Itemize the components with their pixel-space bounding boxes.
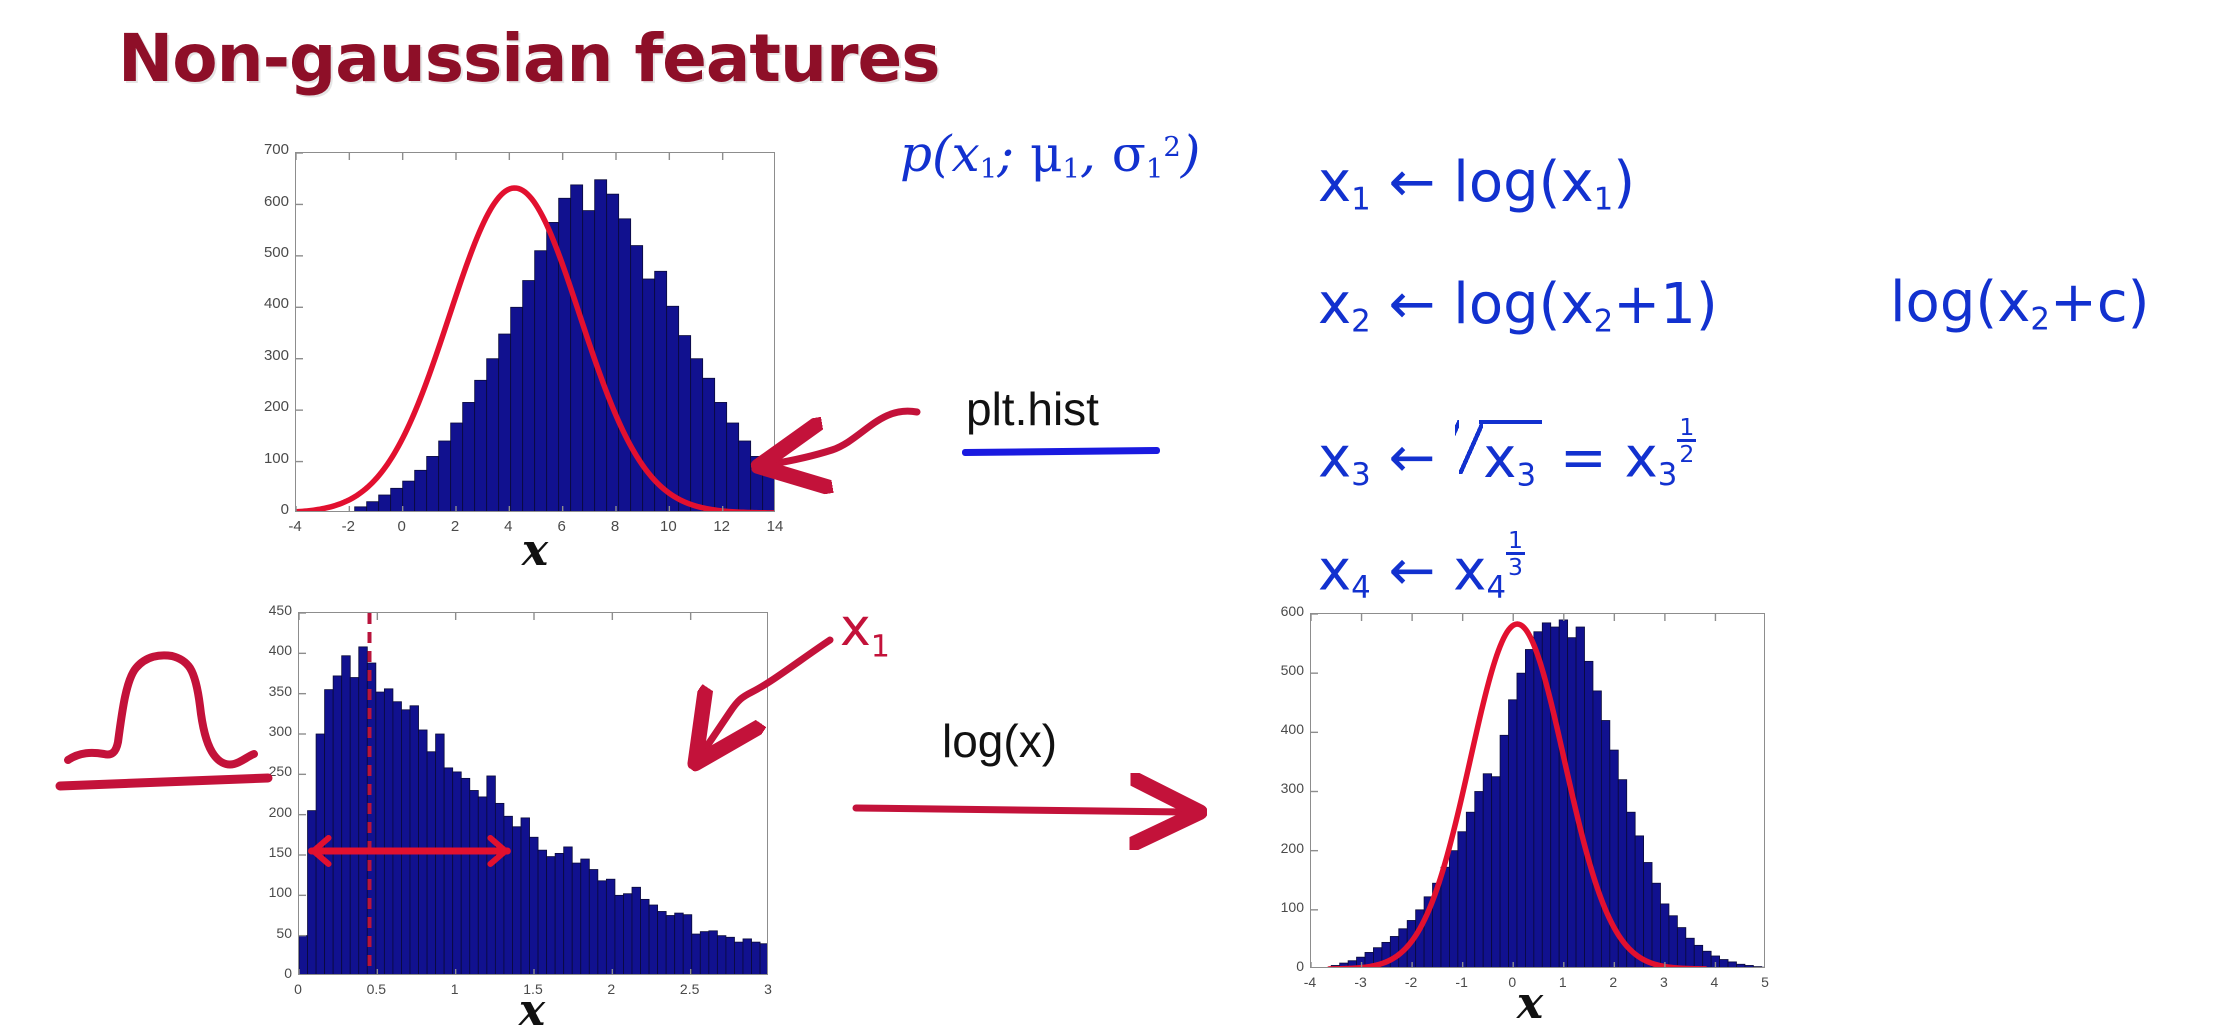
frac-den: 2 [1677, 442, 1696, 466]
histogram-bar [1703, 951, 1711, 968]
histogram-bar [1593, 691, 1601, 968]
histogram-bar [333, 676, 342, 975]
y-tick-label: 250 [234, 763, 292, 779]
histogram-bar [1694, 945, 1702, 968]
histogram-bar [547, 222, 559, 512]
hand-arrow: ← [1389, 539, 1436, 604]
histogram-bar [623, 894, 632, 975]
formula-mu-sub: 1 [1062, 153, 1080, 185]
x-tick-label: 2.5 [665, 981, 715, 997]
y-tick-label: 200 [234, 804, 292, 820]
histogram-bar [606, 879, 615, 975]
histogram-bar [572, 863, 581, 975]
hand-exponent-third: 13 [1506, 528, 1525, 579]
histogram-bar [607, 194, 619, 512]
hand-rhs-sub: 1 [1594, 182, 1614, 218]
handwriting-x2-logc: log(x2+c) [1890, 270, 2150, 338]
histogram-bar [384, 689, 393, 975]
x-tick-label: -1 [1437, 974, 1487, 990]
histogram-bar [683, 915, 692, 975]
hand-lhs: x [1318, 426, 1351, 491]
histogram-bar [470, 790, 479, 975]
histogram-bar [619, 219, 631, 512]
histogram-bar [478, 797, 487, 975]
x-tick-label: 3 [1639, 974, 1689, 990]
chart-2-xlabel: x [492, 985, 572, 1036]
x-tick-label: 10 [643, 518, 693, 535]
plot-canvas [296, 153, 775, 512]
histogram-bar [715, 402, 727, 512]
histogram-bar [427, 752, 436, 975]
chart-hist-gaussian-top [295, 152, 775, 512]
x-tick-label: -4 [270, 518, 320, 535]
histogram-bar [564, 847, 573, 975]
probability-formula: p(x1; μ1, σ12) [900, 125, 1200, 185]
histogram-bar [1449, 851, 1457, 968]
histogram-bar [530, 837, 539, 975]
frac-den: 3 [1506, 555, 1525, 579]
hand-rhs: log(x [1890, 270, 2030, 335]
histogram-bar [709, 931, 718, 975]
histogram-bar [717, 936, 726, 975]
y-tick-label: 0 [231, 501, 289, 518]
histogram-bar [1720, 960, 1728, 968]
histogram-bar [453, 772, 462, 975]
plt-hist-underline [962, 447, 1160, 456]
log-x-label: log(x) [942, 714, 1057, 768]
y-tick-label: 300 [231, 347, 289, 364]
histogram-bar [299, 936, 308, 975]
hand-lhs-sub: 4 [1351, 570, 1371, 606]
histogram-bar [308, 811, 317, 975]
histogram-bar [1458, 832, 1466, 968]
sketch-bump [68, 655, 254, 764]
hand-power-base-sub: 4 [1486, 570, 1506, 606]
y-tick-label: 0 [1246, 958, 1304, 974]
histogram-bar [367, 502, 379, 512]
histogram-bar [1500, 735, 1508, 968]
histogram-bar [739, 441, 751, 512]
x-tick-label: -2 [323, 518, 373, 535]
histogram-bar [511, 307, 523, 512]
histogram-bar [391, 488, 403, 512]
x-tick-label: 0 [273, 981, 323, 997]
histogram-bar [1525, 650, 1533, 969]
arrow-logx [856, 808, 1186, 812]
histogram-bar [1517, 673, 1525, 968]
plot-frame [295, 152, 775, 512]
histogram-bar [342, 656, 351, 975]
histogram-bar [589, 870, 598, 975]
histogram-bar [649, 905, 658, 975]
hand-lhs-sub: 2 [1351, 304, 1371, 340]
histogram-bar [703, 378, 715, 512]
histogram-bar [700, 932, 709, 975]
histogram-bar [1466, 812, 1474, 968]
histogram-bar [1559, 620, 1567, 968]
histogram-bar [631, 246, 643, 512]
histogram-bar [760, 944, 768, 975]
x1-subscript: 1 [871, 629, 890, 664]
histogram-bar [658, 911, 667, 975]
formula-sigma-sub: 1 [1146, 153, 1164, 185]
formula-close: ) [1181, 125, 1201, 183]
arrow-plthist [772, 411, 917, 464]
y-tick-label: 450 [234, 602, 292, 618]
hand-arrow: ← [1389, 426, 1436, 491]
y-tick-label: 400 [231, 295, 289, 312]
y-tick-label: 300 [234, 723, 292, 739]
chart-3-xlabel: x [1490, 978, 1570, 1029]
hand-lhs-sub: 1 [1351, 182, 1371, 218]
hand-arrow: ← [1389, 150, 1436, 215]
formula-x: x [952, 125, 980, 183]
hand-power-base: x [1453, 539, 1486, 604]
hand-lhs: x [1318, 272, 1351, 337]
histogram-bar [666, 916, 675, 976]
x-tick-label: 0.5 [351, 981, 401, 997]
sqrt-icon: x3 [1479, 420, 1542, 494]
histogram-bar [523, 281, 535, 512]
x1-letter: x [840, 598, 871, 658]
y-tick-label: 300 [1246, 780, 1304, 796]
histogram-bar [615, 895, 624, 975]
histogram-bar [763, 469, 775, 512]
histogram-bar [692, 934, 701, 975]
histogram-bar [679, 336, 691, 512]
histogram-bar [1736, 964, 1744, 968]
hand-lhs-sub: 3 [1351, 457, 1371, 493]
histogram-bar [1635, 836, 1643, 968]
hand-rhs-sub: 2 [2030, 302, 2050, 338]
histogram-bar [598, 881, 607, 975]
formula-comma: , [1080, 125, 1112, 183]
histogram-bar [1652, 883, 1660, 968]
histogram-bar [401, 710, 410, 975]
formula-x-sub: 1 [980, 153, 998, 185]
x-tick-label: 3 [743, 981, 793, 997]
histogram-bar [376, 692, 385, 975]
plt-hist-label: plt.hist [966, 382, 1099, 436]
histogram-bar [439, 441, 451, 512]
histogram-bar [393, 702, 402, 975]
histogram-bar [436, 734, 445, 975]
histogram-bar [1753, 967, 1761, 968]
chart-1-xlabel: x [495, 525, 575, 576]
histogram-bar [559, 198, 571, 512]
x-tick-label: 12 [697, 518, 747, 535]
histogram-bar [632, 887, 641, 975]
plot-canvas [1311, 614, 1765, 968]
hand-rhs-sub: 2 [1594, 304, 1614, 340]
y-tick-label: 200 [1246, 840, 1304, 856]
hand-rhs-tail: +c) [2050, 270, 2150, 335]
x-tick-label: -2 [1386, 974, 1436, 990]
histogram-bar [461, 778, 470, 975]
y-tick-label: 500 [1246, 662, 1304, 678]
x-tick-label: 8 [590, 518, 640, 535]
histogram-bar [1728, 962, 1736, 968]
slide-root: Non-gaussian features -4-202468101214010… [0, 0, 2240, 1035]
histogram-bar [1686, 938, 1694, 968]
histogram-bar [475, 380, 487, 512]
y-tick-label: 50 [234, 925, 292, 941]
histogram-bar [403, 481, 415, 512]
handwriting-x3-sqrt: x3 ← x3 = x312 [1318, 415, 1696, 493]
hand-rhs-tail: ) [1613, 150, 1635, 215]
frac-num: 1 [1506, 528, 1525, 555]
x-tick-label: 5 [1740, 974, 1790, 990]
x-tick-label: 2 [430, 518, 480, 535]
hand-power-base: x [1625, 426, 1658, 491]
plot-frame [298, 612, 768, 975]
histogram-bar [495, 803, 504, 975]
hand-rhs: log(x [1453, 272, 1593, 337]
x-tick-label: 4 [1689, 974, 1739, 990]
histogram-bar [1601, 721, 1609, 969]
handwriting-x4-cuberoot: x4 ← x413 [1318, 528, 1525, 606]
x-tick-label: 14 [750, 518, 800, 535]
histogram-bar [581, 859, 590, 975]
histogram-bar [1644, 863, 1652, 969]
histogram-bar [1475, 792, 1483, 969]
hand-rhs-sub: 3 [1516, 457, 1536, 493]
hand-power-base-sub: 3 [1658, 457, 1678, 493]
histogram-bar [571, 185, 583, 512]
histogram-bar [325, 690, 334, 975]
histogram-bar [1551, 627, 1559, 968]
histogram-bar [487, 776, 496, 975]
formula-sigma: σ [1112, 125, 1146, 183]
x-tick-label: -3 [1336, 974, 1386, 990]
y-tick-label: 600 [1246, 603, 1304, 619]
histogram-bar [1669, 916, 1677, 968]
histogram-bar [451, 423, 463, 512]
y-tick-label: 100 [1246, 899, 1304, 915]
x-tick-label: -4 [1285, 974, 1335, 990]
histogram-bar [538, 850, 547, 975]
hand-rhs: x [1483, 426, 1516, 491]
histogram-bar [350, 678, 359, 975]
formula-p-open: p( [900, 125, 952, 183]
histogram-bar [521, 818, 530, 975]
hand-equals: = [1560, 426, 1607, 491]
histogram-bar [499, 334, 511, 512]
histogram-bar [415, 470, 427, 512]
histogram-bar [547, 857, 556, 975]
histogram-bar [1509, 700, 1517, 968]
y-tick-label: 100 [234, 884, 292, 900]
histogram-bar [1534, 632, 1542, 968]
y-tick-label: 350 [234, 683, 292, 699]
formula-sigma-sup: 2 [1163, 131, 1181, 163]
histogram-bar [595, 180, 607, 512]
histogram-bar [427, 456, 439, 512]
histogram-bar [1745, 965, 1753, 968]
histogram-bar [727, 423, 739, 512]
x-tick-label: 2 [1588, 974, 1638, 990]
handwriting-x2-log1: x2 ← log(x2+1) [1318, 272, 1718, 340]
histogram-bar [752, 942, 761, 975]
y-tick-label: 200 [231, 398, 289, 415]
hand-arrow: ← [1389, 272, 1436, 337]
y-tick-label: 500 [231, 244, 289, 261]
histogram-bar [1492, 777, 1500, 968]
hand-rhs: log(x [1453, 150, 1593, 215]
histogram-bar [1441, 867, 1449, 968]
histogram-bar [1576, 627, 1584, 968]
y-tick-label: 400 [1246, 721, 1304, 737]
histogram-bar [1483, 774, 1491, 968]
chart-hist-skewed-left [298, 612, 768, 975]
histogram-bar [535, 251, 547, 512]
histogram-bar [1677, 928, 1685, 968]
hand-exponent-half: 12 [1677, 415, 1696, 466]
frac-num: 1 [1677, 415, 1696, 442]
y-tick-label: 700 [231, 141, 289, 158]
histogram-bar [379, 495, 391, 512]
histogram-bar [726, 937, 735, 975]
histogram-bar [487, 359, 499, 512]
y-tick-label: 400 [234, 642, 292, 658]
histogram-bar [359, 647, 368, 975]
histogram-bar [504, 816, 513, 975]
x-tick-label: 2 [586, 981, 636, 997]
x1-handwritten-label: x1 [840, 598, 890, 664]
histogram-bar [463, 402, 475, 512]
y-tick-label: 0 [234, 965, 292, 981]
histogram-bar [675, 913, 684, 975]
x-tick-label: 1 [430, 981, 480, 997]
histogram-bar [751, 456, 763, 512]
formula-semicolon: ; [997, 125, 1030, 183]
handwriting-x1-log: x1 ← log(x1) [1318, 150, 1635, 218]
hand-rhs-tail: +1) [1613, 272, 1717, 337]
formula-mu: μ [1030, 125, 1063, 183]
hand-lhs: x [1318, 150, 1351, 215]
histogram-bar [655, 271, 667, 512]
histogram-bar [355, 507, 367, 512]
chart-hist-gaussian-right [1310, 613, 1765, 968]
histogram-bar [743, 939, 752, 975]
histogram-bar [667, 306, 679, 512]
histogram-bar [444, 768, 453, 975]
plot-canvas [299, 613, 768, 975]
histogram-bar [691, 359, 703, 512]
y-tick-label: 150 [234, 844, 292, 860]
histogram-bar [512, 827, 521, 975]
plot-frame [1310, 613, 1765, 968]
histogram-bar [555, 853, 564, 975]
histogram-bar [641, 899, 650, 975]
x-tick-label: 0 [377, 518, 427, 535]
histogram-bar [1762, 967, 1765, 968]
histogram-bar [734, 942, 743, 975]
histogram-bar [410, 706, 419, 975]
histogram-bar [1340, 963, 1348, 968]
y-tick-label: 600 [231, 193, 289, 210]
page-title: Non-gaussian features [118, 20, 940, 97]
histogram-bar [1585, 661, 1593, 968]
hand-lhs: x [1318, 539, 1351, 604]
y-tick-label: 100 [231, 450, 289, 467]
histogram-bar [1660, 904, 1668, 968]
